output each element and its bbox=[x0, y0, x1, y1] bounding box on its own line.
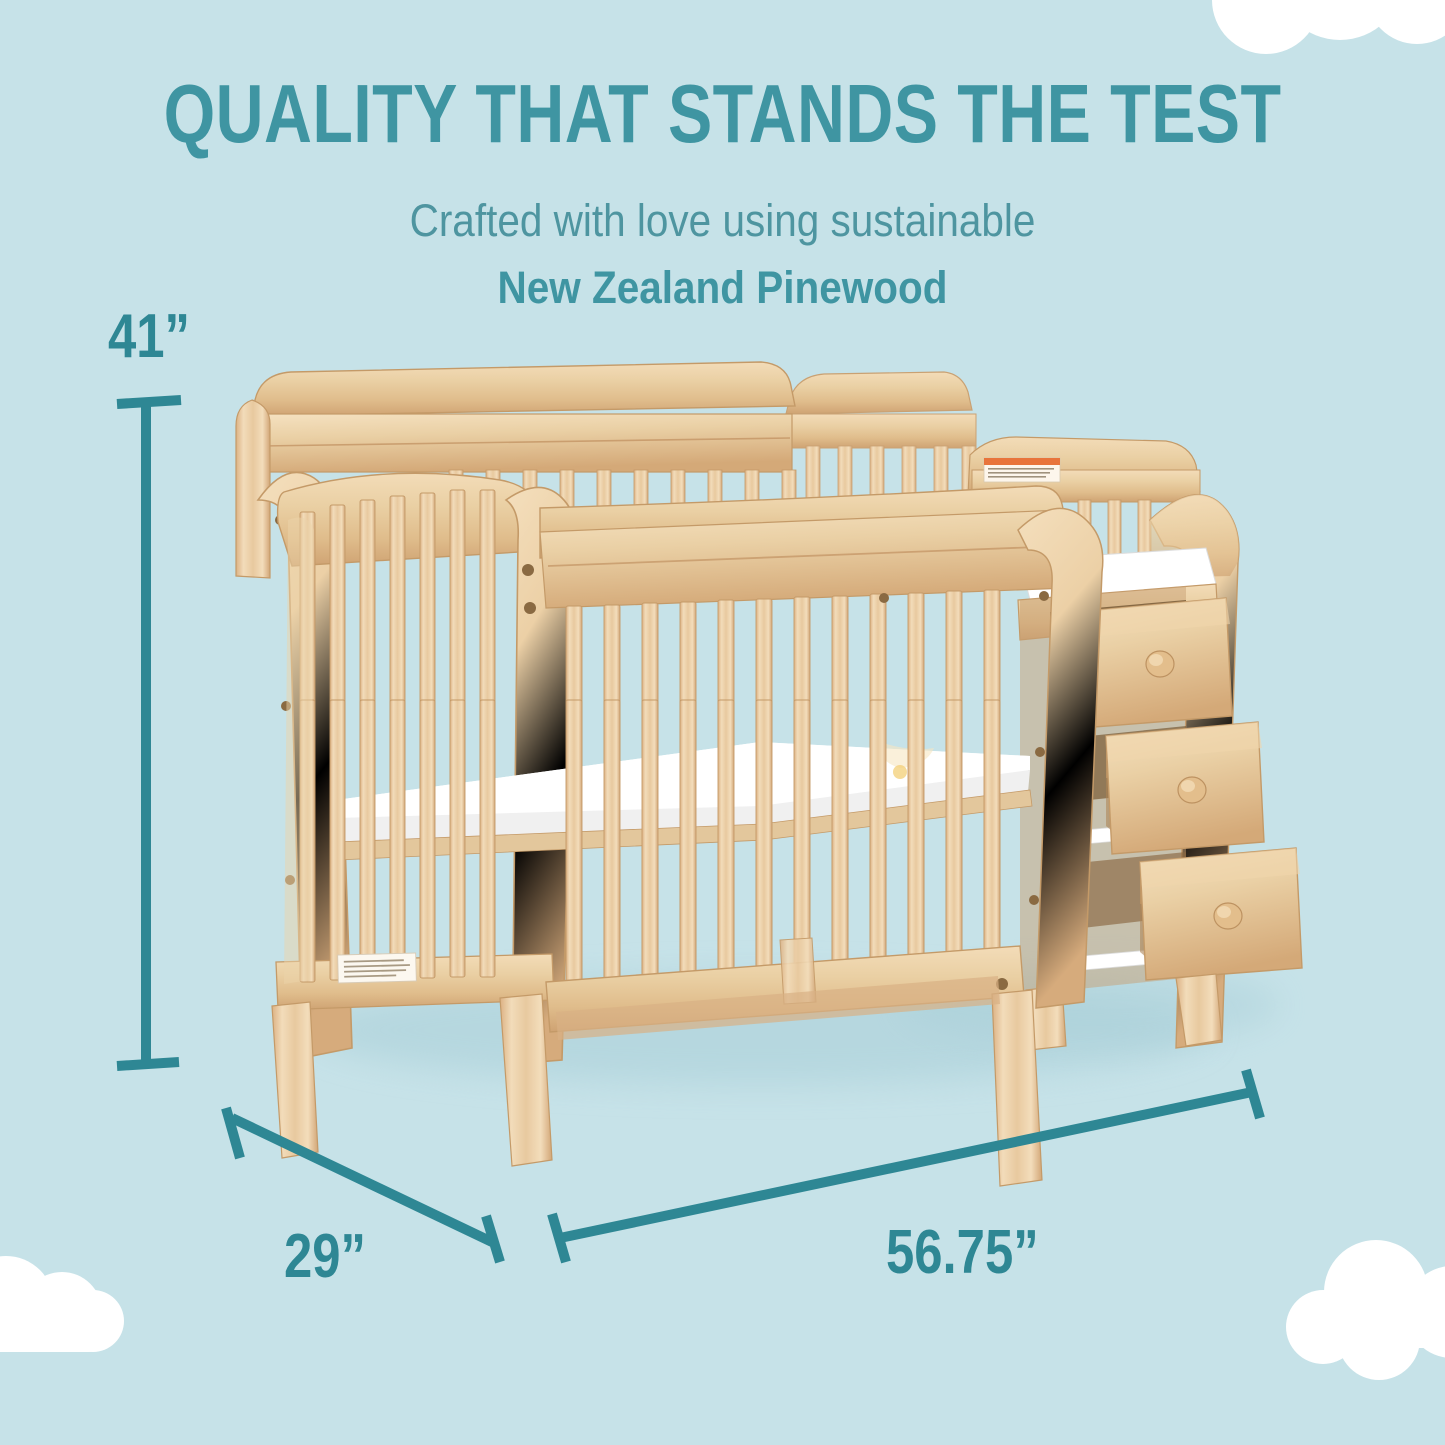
subtitle-line-1: Crafted with love using sustainable bbox=[72, 198, 1373, 243]
warning-label-crib bbox=[338, 953, 417, 983]
subtitle-line-2: New Zealand Pinewood bbox=[72, 265, 1373, 310]
dimension-depth-label: 29” bbox=[284, 1226, 366, 1288]
dimension-width-label: 56.75” bbox=[886, 1222, 1039, 1284]
page-title: QUALITY THAT STANDS THE TEST bbox=[145, 72, 1301, 155]
drawer-bottom bbox=[1140, 848, 1302, 980]
marketing-banner: QUALITY THAT STANDS THE TEST Crafted wit… bbox=[0, 0, 1445, 1445]
dimension-height-label: 41” bbox=[108, 306, 190, 368]
warning-label-changer bbox=[984, 458, 1060, 482]
drawer-middle bbox=[1106, 722, 1264, 854]
